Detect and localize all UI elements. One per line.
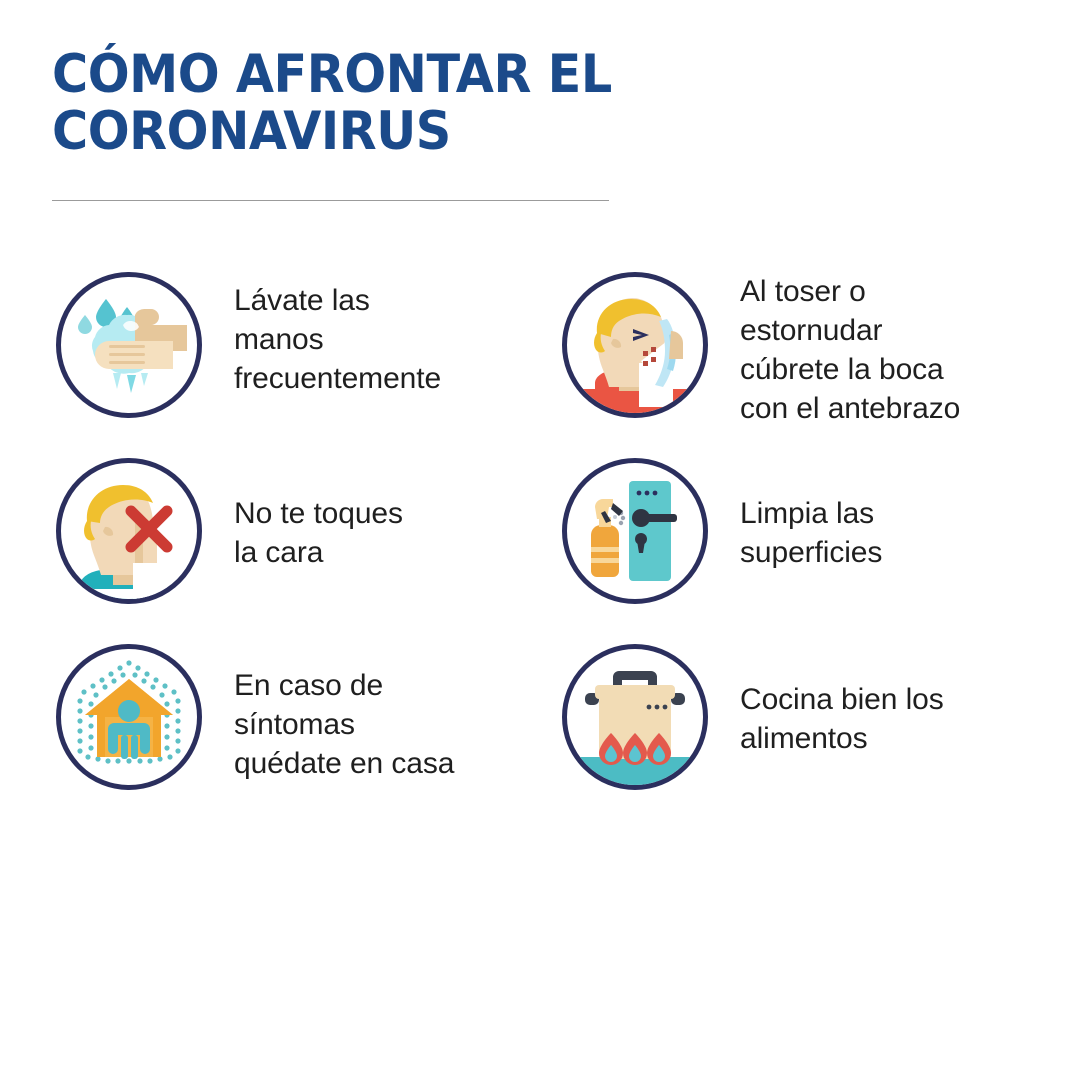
cooking-pot-stove-icon <box>562 644 708 790</box>
tip-label: Limpia las superficies <box>740 458 882 572</box>
header: CÓMO AFRONTAR EL CORONAVIRUS <box>52 46 752 160</box>
house-person-icon <box>56 644 202 790</box>
tip-cook-food: Cocina bien los alimentos <box>562 644 1068 830</box>
title-divider <box>52 200 609 201</box>
page-title: CÓMO AFRONTAR EL CORONAVIRUS <box>52 46 703 160</box>
tip-clean-surfaces: Limpia las superficies <box>562 458 1068 644</box>
tip-dont-touch-face: No te toques la cara <box>56 458 562 644</box>
cough-sneeze-elbow-icon <box>562 272 708 418</box>
tips-grid: Lávate las manos frecuentemente <box>0 272 1080 830</box>
tip-stay-home: En caso de síntomas quédate en casa <box>56 644 562 830</box>
tip-label: En caso de síntomas quédate en casa <box>234 644 454 783</box>
no-touch-face-icon <box>56 458 202 604</box>
tip-label: Cocina bien los alimentos <box>740 644 944 758</box>
spray-door-handle-icon <box>562 458 708 604</box>
tip-wash-hands: Lávate las manos frecuentemente <box>56 272 562 458</box>
tip-label: No te toques la cara <box>234 458 403 572</box>
tip-cover-cough: Al toser o estornudar cúbrete la boca co… <box>562 272 1068 458</box>
tip-label: Lávate las manos frecuentemente <box>234 272 441 398</box>
infographic-poster: CÓMO AFRONTAR EL CORONAVIRUS <box>0 0 1080 1080</box>
washing-hands-icon <box>56 272 202 418</box>
tip-label: Al toser o estornudar cúbrete la boca co… <box>740 272 960 428</box>
